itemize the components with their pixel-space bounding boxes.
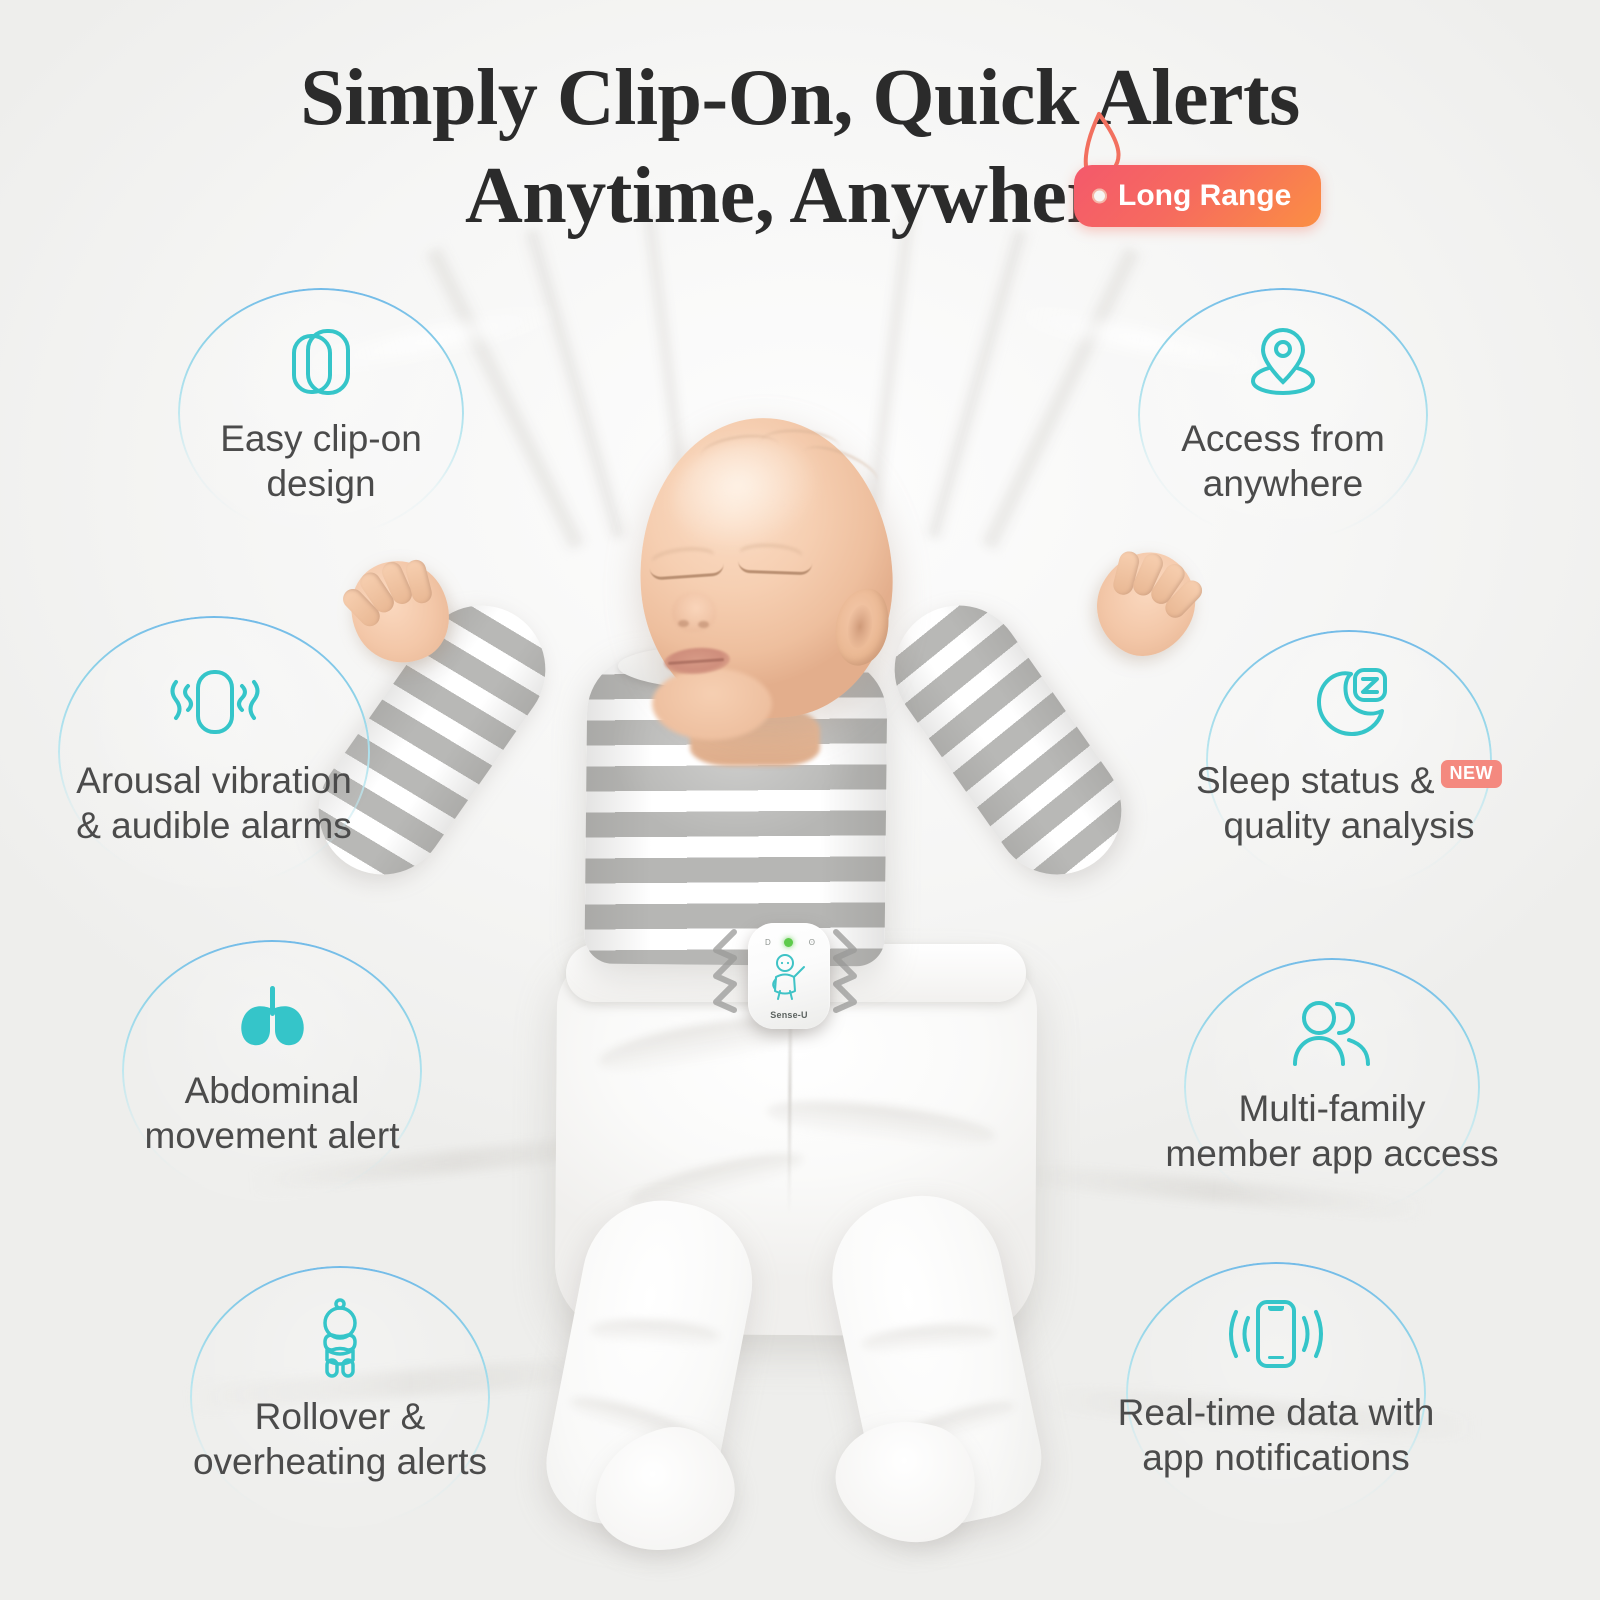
feature-arousal-vibration-audible-alarms[interactable]: Arousal vibration & audible alarms — [58, 616, 370, 888]
feature-label: Access from anywhere — [1181, 416, 1385, 506]
feature-label: Rollover & overheating alerts — [193, 1394, 487, 1484]
feature-label-line-1: Access from — [1181, 416, 1385, 461]
phone-vibrating-icon — [1218, 1298, 1334, 1374]
tag-hole-icon — [1092, 189, 1107, 204]
feature-abdominal-movement-alert[interactable]: Abdominal movement alert — [122, 940, 422, 1202]
feature-easy-clip-on-design[interactable]: Easy clip-on design — [178, 288, 464, 538]
feature-label-line-1: Sleep status &NEW — [1196, 758, 1502, 803]
baby-icon — [306, 1298, 374, 1380]
status-badge-new: NEW — [1441, 760, 1503, 788]
feature-label-line-2: & audible alarms — [76, 803, 352, 848]
long-range-tag: Long Range — [1065, 108, 1365, 248]
baby-closed-eye — [738, 561, 812, 576]
feature-sleep-status-quality-analysis[interactable]: Sleep status &NEW quality analysis — [1206, 630, 1492, 890]
baby-right-hand — [1079, 536, 1213, 673]
lungs-icon — [230, 982, 314, 1054]
feature-label-line-1: Easy clip-on — [220, 416, 422, 461]
device-status-led — [784, 938, 793, 947]
vibration-zigzag-left — [700, 928, 744, 1024]
feature-multi-family-member-app-access[interactable]: Multi-family member app access — [1184, 958, 1480, 1216]
baby-chin — [652, 668, 772, 740]
feature-label: Abdominal movement alert — [145, 1068, 400, 1158]
feature-label: Multi-family member app access — [1165, 1086, 1498, 1176]
feature-label-line-2: overheating alerts — [193, 1439, 487, 1484]
vibration-zigzag-right — [826, 928, 870, 1024]
feature-label: Easy clip-on design — [220, 416, 422, 506]
baby-nose — [672, 592, 716, 632]
feature-access-from-anywhere[interactable]: Access from anywhere — [1138, 288, 1428, 542]
feature-label-line-1: Real-time data with — [1118, 1390, 1435, 1435]
feature-label-line-2: app notifications — [1118, 1435, 1435, 1480]
feature-label-line-2: design — [220, 461, 422, 506]
feature-label-line-1: Multi-family — [1165, 1086, 1498, 1131]
clip-device-icon — [288, 324, 354, 402]
location-pin-icon — [1245, 324, 1321, 398]
sense-u-monitor-device[interactable]: D ʘ Sense-U — [748, 923, 830, 1029]
feature-label: Real-time data with app notifications — [1118, 1390, 1435, 1480]
feature-label-line-1: Rollover & — [193, 1394, 487, 1439]
device-brand-label: Sense-U — [748, 1010, 830, 1020]
feature-label-text: Sleep status & — [1196, 760, 1435, 801]
feature-real-time-data-app-notifications[interactable]: Real-time data with app notifications — [1126, 1262, 1426, 1524]
feature-label-line-2: anywhere — [1181, 461, 1385, 506]
feature-label-line-1: Abdominal — [145, 1068, 400, 1113]
feature-label-line-2: quality analysis — [1196, 803, 1502, 848]
feature-label-line-1: Arousal vibration — [76, 758, 352, 803]
feature-rollover-overheating-alerts[interactable]: Rollover & overheating alerts — [190, 1266, 490, 1528]
two-people-icon — [1289, 996, 1375, 1070]
device-indicator-right: ʘ — [809, 938, 815, 947]
long-range-tag-label: Long Range — [1118, 179, 1291, 212]
device-indicator-left: D — [765, 938, 771, 947]
feature-label-line-2: member app access — [1165, 1131, 1498, 1176]
headline-line-2: Anytime, Anywhere — [465, 156, 1135, 236]
feature-label: Sleep status &NEW quality analysis — [1196, 758, 1502, 848]
feature-label: Arousal vibration & audible alarms — [76, 758, 352, 848]
long-range-tag-body[interactable]: Long Range — [1074, 165, 1321, 227]
moon-z-icon — [1305, 666, 1393, 744]
feature-label-line-2: movement alert — [145, 1113, 400, 1158]
device-baby-figure-icon — [766, 953, 812, 1001]
vibration-device-icon — [154, 664, 274, 740]
